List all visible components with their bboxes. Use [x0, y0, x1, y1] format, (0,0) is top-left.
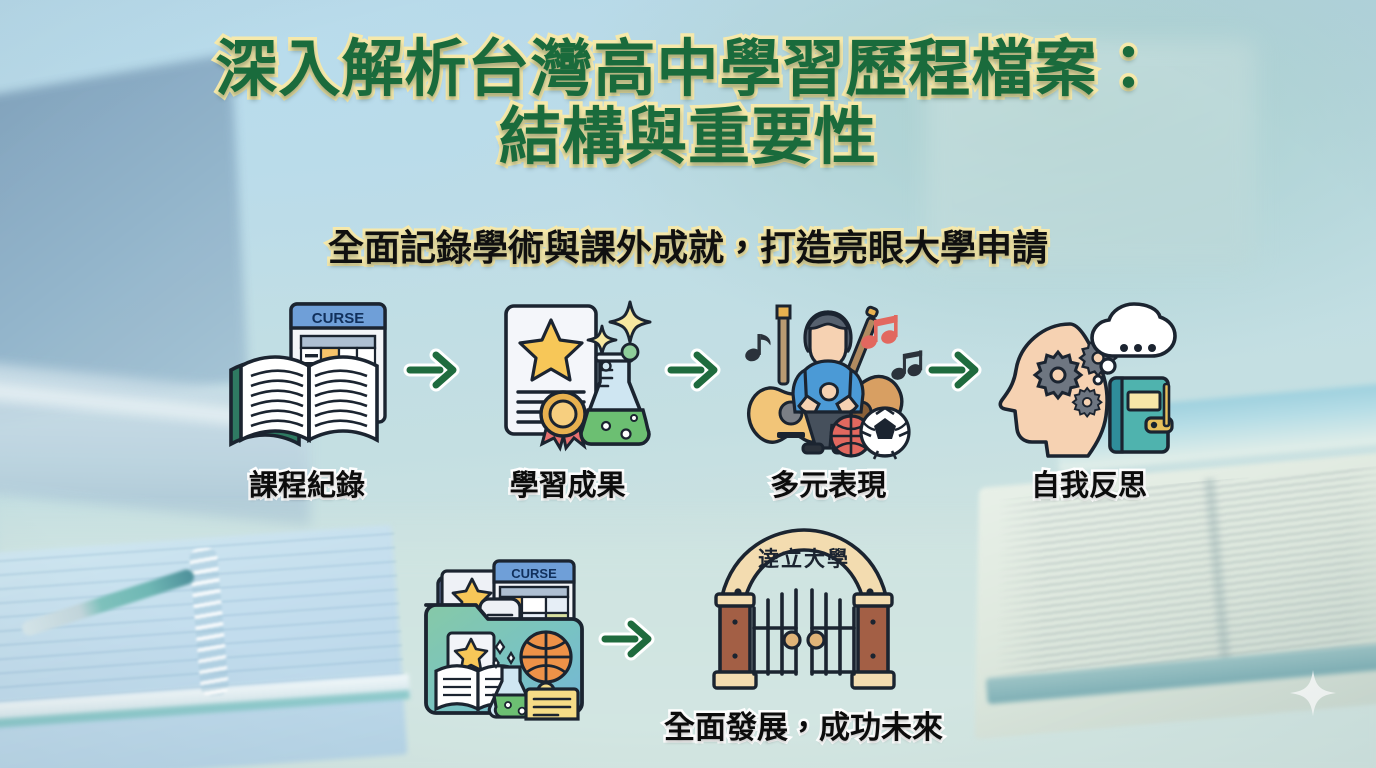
- flow-node-university-gate[interactable]: 逹立大學: [664, 530, 943, 747]
- course-record-icon: CURSE: [223, 296, 391, 456]
- flow-row-top: CURSE: [218, 296, 1178, 504]
- flow-arrow-2: [666, 348, 730, 392]
- flow-node-course-record[interactable]: CURSE: [218, 296, 396, 504]
- arrow-right-icon: [601, 617, 663, 661]
- flow-label-diverse-performance: 多元表現: [770, 462, 886, 504]
- flow-label-self-reflection: 自我反思: [1031, 462, 1147, 504]
- portfolio-folder-icon: CURSE: [410, 555, 600, 723]
- university-gate-icon: 逹立大學: [704, 530, 904, 698]
- flow-label-learning-outcome: 學習成果: [510, 462, 626, 504]
- page-subtitle: 全面記錄學術與課外成就，打造亮眼大學申請: [0, 226, 1376, 270]
- gate-knob-right: [808, 632, 824, 648]
- self-reflection-icon: [996, 296, 1182, 456]
- flow-node-learning-outcome[interactable]: 學習成果: [479, 296, 657, 504]
- headline-line-1: 深入解析台灣高中學習歷程檔案：: [215, 35, 1160, 104]
- gate-arch-text: 逹立大學: [758, 547, 850, 571]
- flow-node-diverse-performance[interactable]: 多元表現: [739, 296, 917, 504]
- gate-knob-left: [784, 632, 800, 648]
- page-title: 深入解析台灣高中學習歷程檔案： 結構與重要性: [0, 36, 1376, 172]
- arrow-right-icon: [667, 348, 729, 392]
- flow-arrow-bottom: [600, 617, 664, 661]
- basketball-icon: [521, 632, 571, 682]
- diverse-performance-icon: [739, 296, 917, 456]
- flow-label-course-record: 課程紀錄: [249, 462, 365, 504]
- folder-schedule-header-text: CURSE: [511, 566, 557, 581]
- flow-node-self-reflection[interactable]: 自我反思: [1000, 296, 1178, 504]
- open-book-icon: [231, 357, 377, 444]
- subheadline-text: 全面記錄學術與課外成就，打造亮眼大學申請: [0, 226, 1376, 270]
- headline-line-2: 結構與重要性: [0, 104, 1376, 172]
- journal-notebook-icon: [1110, 378, 1172, 452]
- award-medal-icon: [541, 392, 585, 448]
- gate-arch-sign: 逹立大學: [722, 530, 886, 602]
- flow-row-bottom: CURSE: [410, 530, 980, 747]
- gate-bars: [754, 590, 854, 674]
- note-card-icon: [526, 683, 578, 719]
- schedule-header-text: CURSE: [312, 310, 365, 327]
- flow-arrow-1: [405, 348, 469, 392]
- thought-bubble-icon: [1092, 304, 1175, 384]
- flow-node-portfolio-folder[interactable]: CURSE: [410, 555, 600, 723]
- soccer-ball-icon: [861, 408, 909, 459]
- learning-outcome-icon: [484, 296, 652, 456]
- arrow-right-icon: [406, 348, 468, 392]
- flow-arrow-3: [927, 348, 991, 392]
- flow-label-holistic-future: 全面發展，成功未來: [664, 702, 943, 747]
- gate-pillars: [714, 594, 894, 688]
- arrow-right-icon: [928, 348, 990, 392]
